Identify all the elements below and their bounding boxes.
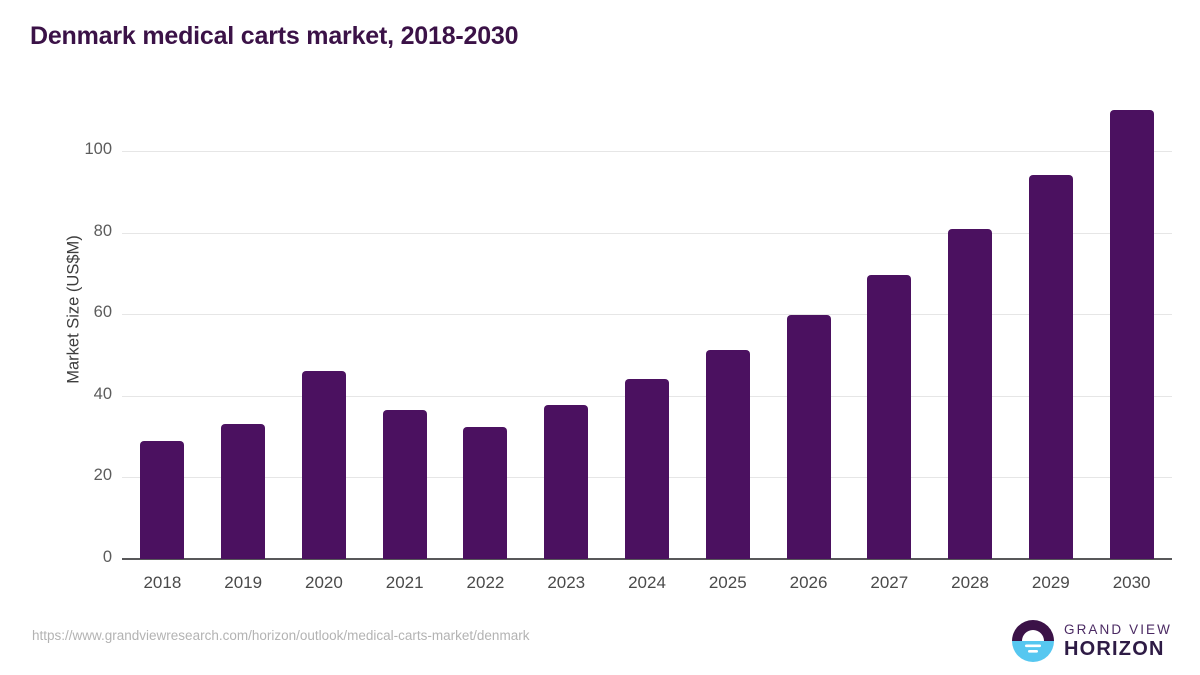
bar-slot: 2023 [526, 0, 607, 675]
x-tick-label-2029: 2029 [1010, 573, 1091, 593]
horizon-sun-icon [1011, 619, 1055, 663]
bar-2030[interactable] [1110, 110, 1154, 559]
chart-plot-area: Market Size (US$M) 020406080100 20182019… [0, 0, 1200, 675]
bar-2025[interactable] [706, 350, 750, 559]
grand-view-horizon-logo: GRAND VIEW HORIZON [1011, 618, 1172, 664]
bar-2024[interactable] [625, 379, 669, 559]
x-tick-label-2025: 2025 [687, 573, 768, 593]
x-tick-label-2027: 2027 [849, 573, 930, 593]
bar-2019[interactable] [221, 424, 265, 559]
bar-slot: 2021 [364, 0, 445, 675]
logo-line-horizon: HORIZON [1064, 639, 1172, 659]
bar-2027[interactable] [867, 275, 911, 559]
bar-2018[interactable] [140, 441, 184, 559]
x-tick-label-2028: 2028 [930, 573, 1011, 593]
bar-slot: 2022 [445, 0, 526, 675]
x-tick-label-2030: 2030 [1091, 573, 1172, 593]
bar-slot: 2028 [930, 0, 1011, 675]
x-tick-label-2020: 2020 [284, 573, 365, 593]
y-tick-label: 80 [52, 222, 112, 241]
bars-group: 2018201920202021202220232024202520262027… [122, 0, 1172, 675]
chart-page: Denmark medical carts market, 2018-2030 … [0, 0, 1200, 675]
logo-line-grand-view: GRAND VIEW [1064, 623, 1172, 637]
bar-2021[interactable] [383, 410, 427, 559]
bar-slot: 2026 [768, 0, 849, 675]
y-tick-label: 0 [52, 548, 112, 567]
y-tick-label: 20 [52, 466, 112, 485]
x-tick-label-2026: 2026 [768, 573, 849, 593]
bar-2020[interactable] [302, 371, 346, 559]
x-tick-label-2018: 2018 [122, 573, 203, 593]
bar-2022[interactable] [463, 427, 507, 559]
bar-2023[interactable] [544, 405, 588, 559]
x-tick-label-2023: 2023 [526, 573, 607, 593]
bar-slot: 2030 [1091, 0, 1172, 675]
bar-2029[interactable] [1029, 175, 1073, 559]
bar-slot: 2024 [607, 0, 688, 675]
y-tick-label: 60 [52, 303, 112, 322]
source-url[interactable]: https://www.grandviewresearch.com/horizo… [32, 628, 529, 643]
bar-slot: 2025 [687, 0, 768, 675]
logo-wordmark: GRAND VIEW HORIZON [1064, 623, 1172, 660]
bar-slot: 2029 [1010, 0, 1091, 675]
x-tick-label-2021: 2021 [364, 573, 445, 593]
y-tick-label: 40 [52, 385, 112, 404]
bar-2028[interactable] [948, 229, 992, 559]
bar-slot: 2020 [284, 0, 365, 675]
bar-slot: 2027 [849, 0, 930, 675]
bar-slot: 2018 [122, 0, 203, 675]
bar-slot: 2019 [203, 0, 284, 675]
bar-2026[interactable] [787, 315, 831, 559]
x-tick-label-2019: 2019 [203, 573, 284, 593]
x-tick-label-2022: 2022 [445, 573, 526, 593]
x-tick-label-2024: 2024 [607, 573, 688, 593]
y-tick-label: 100 [52, 140, 112, 159]
